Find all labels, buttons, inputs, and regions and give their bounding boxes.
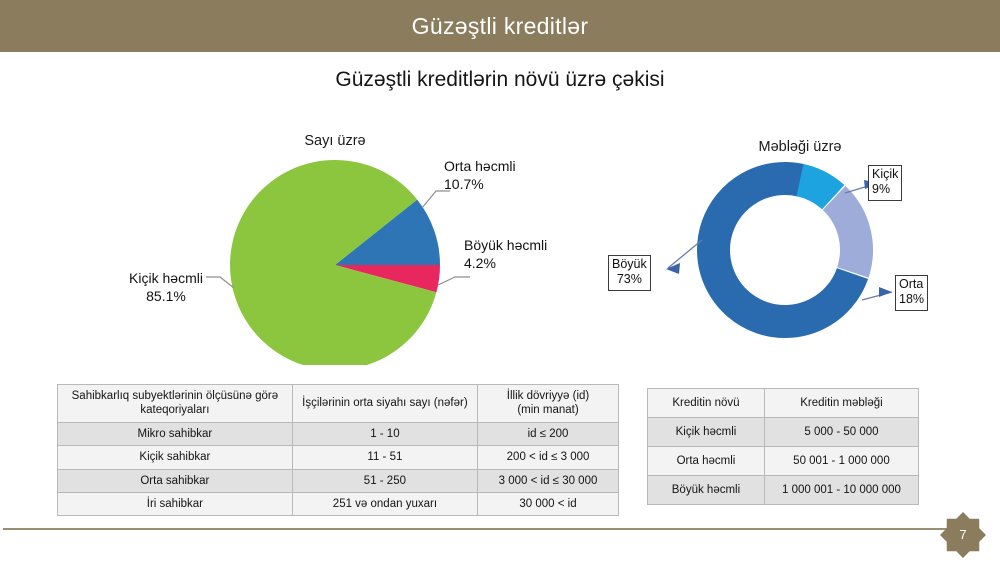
footer-divider — [3, 528, 955, 530]
donut-callout-orta: Orta 18% — [895, 275, 928, 311]
header-category-line1: Sahibkarlıq subyektlərinin ölçüsünə görə — [72, 390, 278, 402]
cell-turnover: id ≤ 200 — [478, 422, 619, 445]
donut-callout-boyuk-name: Böyük — [612, 257, 647, 272]
pie-label-kicik: Kiçik həcmli 85.1% — [90, 270, 242, 306]
donut-arrow-line-boyuk — [668, 240, 702, 268]
cell-employees: 251 və ondan yuxarı — [292, 492, 477, 515]
cell-turnover: 3 000 < id ≤ 30 000 — [478, 469, 619, 492]
table-row: Böyük həcmli 1 000 001 - 10 000 000 — [648, 476, 919, 505]
cell-credit-type: Böyük həcmli — [648, 476, 765, 505]
cell-credit-type: Kiçik həcmli — [648, 418, 765, 447]
cell-employees: 1 - 10 — [292, 422, 477, 445]
donut-callout-orta-name: Orta — [899, 277, 924, 292]
header-turnover-line2: (min manat) — [517, 404, 578, 416]
table-row: Orta sahibkar 51 - 250 3 000 < id ≤ 30 0… — [58, 469, 619, 492]
table-row: Mikro sahibkar 1 - 10 id ≤ 200 — [58, 422, 619, 445]
pie-label-boyuk-value: 4.2% — [464, 255, 547, 273]
pie-leader-line-boyuk — [438, 277, 470, 285]
pie-label-kicik-name: Kiçik həcmli — [90, 270, 242, 288]
donut-callout-boyuk: Böyük 73% — [608, 255, 651, 291]
donut-chart-meblegi-uzre: Məbləği üzrə Kiçik 9% Orta 18% Böyük 73% — [600, 135, 990, 360]
donut-callout-boyuk-value: 73% — [612, 272, 647, 287]
cell-employees: 11 - 51 — [292, 446, 477, 469]
cell-category: İri sahibkar — [58, 492, 293, 515]
table-right-header-amount: Kreditin məbləği — [764, 389, 918, 418]
cell-turnover: 200 < id ≤ 3 000 — [478, 446, 619, 469]
cell-employees: 51 - 250 — [292, 469, 477, 492]
table-row: Kiçik sahibkar 11 - 51 200 < id ≤ 3 000 — [58, 446, 619, 469]
cell-credit-amount: 50 001 - 1 000 000 — [764, 447, 918, 476]
table-left-header-employees: İşçilərinin orta siyahı sayı (nəfər) — [292, 385, 477, 423]
cell-category: Kiçik sahibkar — [58, 446, 293, 469]
table-left-header-category: Sahibkarlıq subyektlərinin ölçüsünə görə… — [58, 385, 293, 423]
header-title: Güzəştli kreditlər — [0, 0, 1000, 52]
cell-category: Mikro sahibkar — [58, 422, 293, 445]
donut-arrow-head-orta — [879, 287, 892, 297]
pie-chart-sayi-uzre: Sayı üzrə Orta həcmli 10.7% Böyük həcmli… — [150, 125, 570, 365]
table-row: Kiçik həcmli 5 000 - 50 000 — [648, 418, 919, 447]
cell-credit-amount: 1 000 001 - 10 000 000 — [764, 476, 918, 505]
donut-callout-kicik-name: Kiçik — [872, 167, 898, 182]
cell-credit-amount: 5 000 - 50 000 — [764, 418, 918, 447]
pie-label-orta: Orta həcmli 10.7% — [444, 158, 516, 194]
table-right-header-type: Kreditin növü — [648, 389, 765, 418]
cell-turnover: 30 000 < id — [478, 492, 619, 515]
header-employees-line1: İşçilərinin orta siyahı sayı (nəfər) — [302, 397, 468, 409]
pie-label-kicik-value: 85.1% — [90, 288, 242, 306]
pie-label-orta-name: Orta həcmli — [444, 158, 516, 176]
table-header-row: Sahibkarlıq subyektlərinin ölçüsünə görə… — [58, 385, 619, 423]
page-number-badge: 7 — [940, 512, 986, 558]
cell-credit-type: Orta həcmli — [648, 447, 765, 476]
header-category-line2: kateqoriyaları — [140, 404, 209, 416]
pie-label-boyuk-name: Böyük həcmli — [464, 237, 547, 255]
donut-callout-kicik: Kiçik 9% — [868, 165, 902, 201]
page-number: 7 — [940, 512, 986, 558]
table-credit-types: Kreditin növü Kreditin məbləği Kiçik həc… — [647, 388, 919, 505]
donut-callout-orta-value: 18% — [899, 292, 924, 307]
table-left-header-turnover: İllik dövriyyə (id) (min manat) — [478, 385, 619, 423]
page-title: Güzəştli kreditlərin növü üzrə çəkisi — [0, 68, 1000, 92]
pie-label-boyuk: Böyük həcmli 4.2% — [464, 237, 547, 273]
table-header-row: Kreditin növü Kreditin məbləği — [648, 389, 919, 418]
donut-chart-graphic — [600, 135, 990, 360]
table-row: Orta həcmli 50 001 - 1 000 000 — [648, 447, 919, 476]
donut-callout-kicik-value: 9% — [872, 182, 898, 197]
pie-label-orta-value: 10.7% — [444, 176, 516, 194]
cell-category: Orta sahibkar — [58, 469, 293, 492]
table-row: İri sahibkar 251 və ondan yuxarı 30 000 … — [58, 492, 619, 515]
table-enterprise-categories: Sahibkarlıq subyektlərinin ölçüsünə görə… — [57, 384, 619, 516]
header-turnover-line1: İllik dövriyyə (id) — [507, 390, 589, 402]
